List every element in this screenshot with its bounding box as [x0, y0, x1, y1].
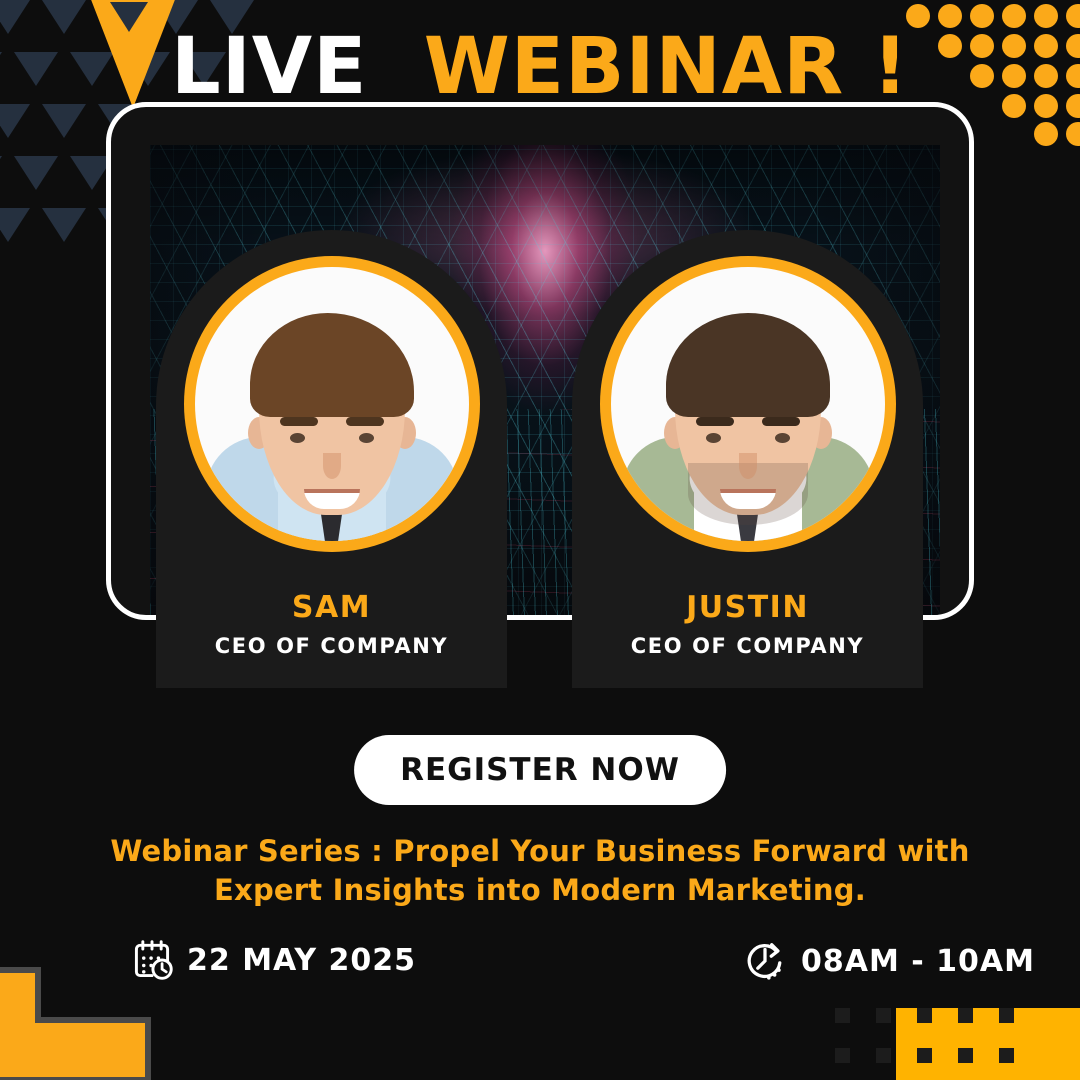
time-info: 08AM - 10AM [742, 938, 1035, 984]
calendar-clock-icon [130, 938, 174, 982]
speaker-name: JUSTIN [572, 590, 923, 625]
headline-live: LIVE [171, 22, 367, 112]
orange-block-squares-icon [780, 990, 1080, 1080]
speaker-role: CEO OF COMPANY [156, 634, 507, 658]
speaker-card: SAM CEO OF COMPANY [156, 230, 507, 688]
speaker-role: CEO OF COMPANY [572, 634, 923, 658]
clock-icon [742, 938, 788, 984]
page-title: LIVE WEBINAR ! [0, 28, 1080, 106]
date-info: 22 MAY 2025 [130, 938, 416, 982]
speaker-card: JUSTIN CEO OF COMPANY [572, 230, 923, 688]
speaker-photo-sam [195, 267, 469, 541]
webinar-description: Webinar Series : Propel Your Business Fo… [90, 832, 990, 910]
avatar [600, 256, 896, 552]
speaker-photo-justin [611, 267, 885, 541]
speaker-name: SAM [156, 590, 507, 625]
avatar [184, 256, 480, 552]
date-text: 22 MAY 2025 [187, 943, 416, 978]
register-now-button[interactable]: REGISTER NOW [354, 735, 726, 805]
time-text: 08AM - 10AM [801, 944, 1035, 979]
headline-webinar: WEBINAR ! [424, 22, 909, 112]
